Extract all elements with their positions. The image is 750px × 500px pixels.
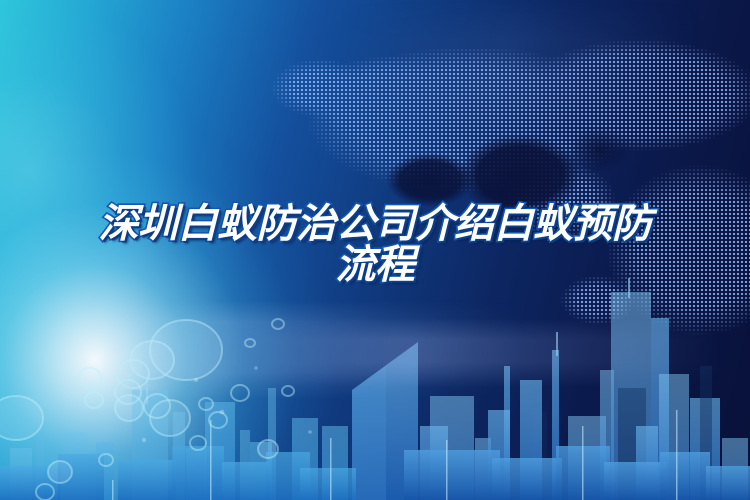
banner-title: 深圳白蚁防治公司介绍白蚁预防 流程 — [0, 204, 750, 286]
banner-title-line-1: 深圳白蚁防治公司介绍白蚁预防 — [0, 204, 750, 245]
banner-title-line-2: 流程 — [0, 245, 750, 286]
promo-banner: 深圳白蚁防治公司介绍白蚁预防 流程 — [0, 0, 750, 500]
